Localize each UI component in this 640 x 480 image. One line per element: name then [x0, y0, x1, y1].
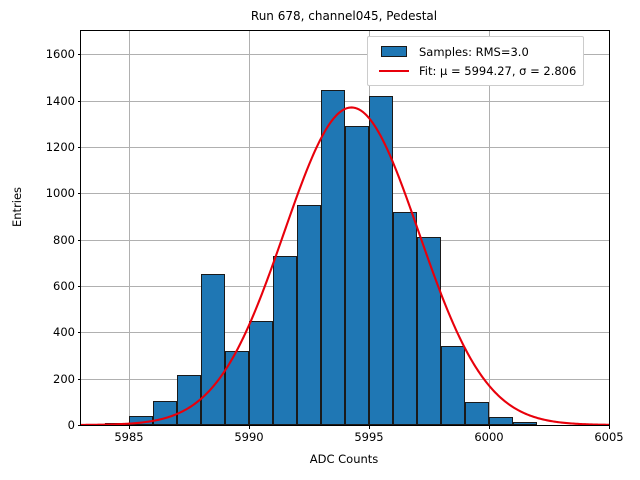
y-tick-mark [78, 286, 82, 287]
y-tick-mark [78, 332, 82, 333]
y-tick-label: 1600 [13, 48, 75, 60]
histogram-bar [369, 96, 393, 425]
histogram-bar [129, 416, 153, 425]
legend-label-samples: Samples: RMS=3.0 [413, 45, 529, 59]
y-tick-label: 1000 [13, 187, 75, 199]
x-axis-label: ADC Counts [80, 452, 608, 466]
y-tick-label: 200 [13, 373, 75, 385]
legend-patch-icon [375, 46, 413, 57]
histogram-bar [513, 422, 537, 425]
y-tick-mark [78, 147, 82, 148]
y-tick-mark [78, 240, 82, 241]
x-tick-label: 5990 [214, 431, 284, 443]
legend-item-fit: Fit: μ = 5994.27, σ = 2.806 [375, 61, 576, 80]
histogram-bar [201, 274, 225, 425]
y-tick-mark [78, 193, 82, 194]
histogram-bar [273, 256, 297, 425]
histogram-bar [249, 321, 273, 425]
y-tick-mark [78, 54, 82, 55]
histogram-bar [345, 126, 369, 425]
legend-label-fit: Fit: μ = 5994.27, σ = 2.806 [413, 64, 576, 78]
y-tick-mark [78, 379, 82, 380]
x-tick-mark [249, 425, 250, 429]
y-tick-mark [78, 425, 82, 426]
y-tick-label: 1400 [13, 95, 75, 107]
x-tick-mark [369, 425, 370, 429]
gridline-v [489, 31, 490, 425]
y-tick-label: 0 [13, 419, 75, 431]
chart-title: Run 678, channel045, Pedestal [80, 9, 608, 24]
histogram-bar [465, 402, 489, 425]
y-tick-label: 1200 [13, 141, 75, 153]
histogram-bar [393, 212, 417, 425]
y-tick-mark [78, 101, 82, 102]
plot-inner [81, 31, 609, 425]
histogram-bar [417, 237, 441, 425]
gridline-v [129, 31, 130, 425]
legend-line-icon [375, 70, 413, 72]
x-tick-label: 6000 [454, 431, 524, 443]
x-tick-mark [129, 425, 130, 429]
x-tick-mark [489, 425, 490, 429]
x-tick-label: 5985 [94, 431, 164, 443]
histogram-bar [177, 375, 201, 425]
y-tick-label: 400 [13, 326, 75, 338]
y-tick-label: 600 [13, 280, 75, 292]
x-tick-mark [609, 425, 610, 429]
plot-area: 02004006008001000120014001600 5985599059… [80, 30, 610, 426]
histogram-bar [105, 423, 129, 425]
histogram-bar [321, 90, 345, 425]
histogram-bar [441, 346, 465, 425]
legend-item-samples: Samples: RMS=3.0 [375, 42, 576, 61]
y-tick-label: 800 [13, 234, 75, 246]
histogram-bar [489, 417, 513, 425]
histogram-bar [297, 205, 321, 425]
gridline-h [81, 101, 609, 102]
legend: Samples: RMS=3.0 Fit: μ = 5994.27, σ = 2… [367, 36, 584, 86]
figure-canvas: Run 678, channel045, Pedestal Entries AD… [0, 0, 640, 480]
histogram-bar [225, 351, 249, 425]
x-tick-label: 6005 [574, 431, 640, 443]
x-tick-label: 5995 [334, 431, 404, 443]
histogram-bar [153, 401, 177, 425]
